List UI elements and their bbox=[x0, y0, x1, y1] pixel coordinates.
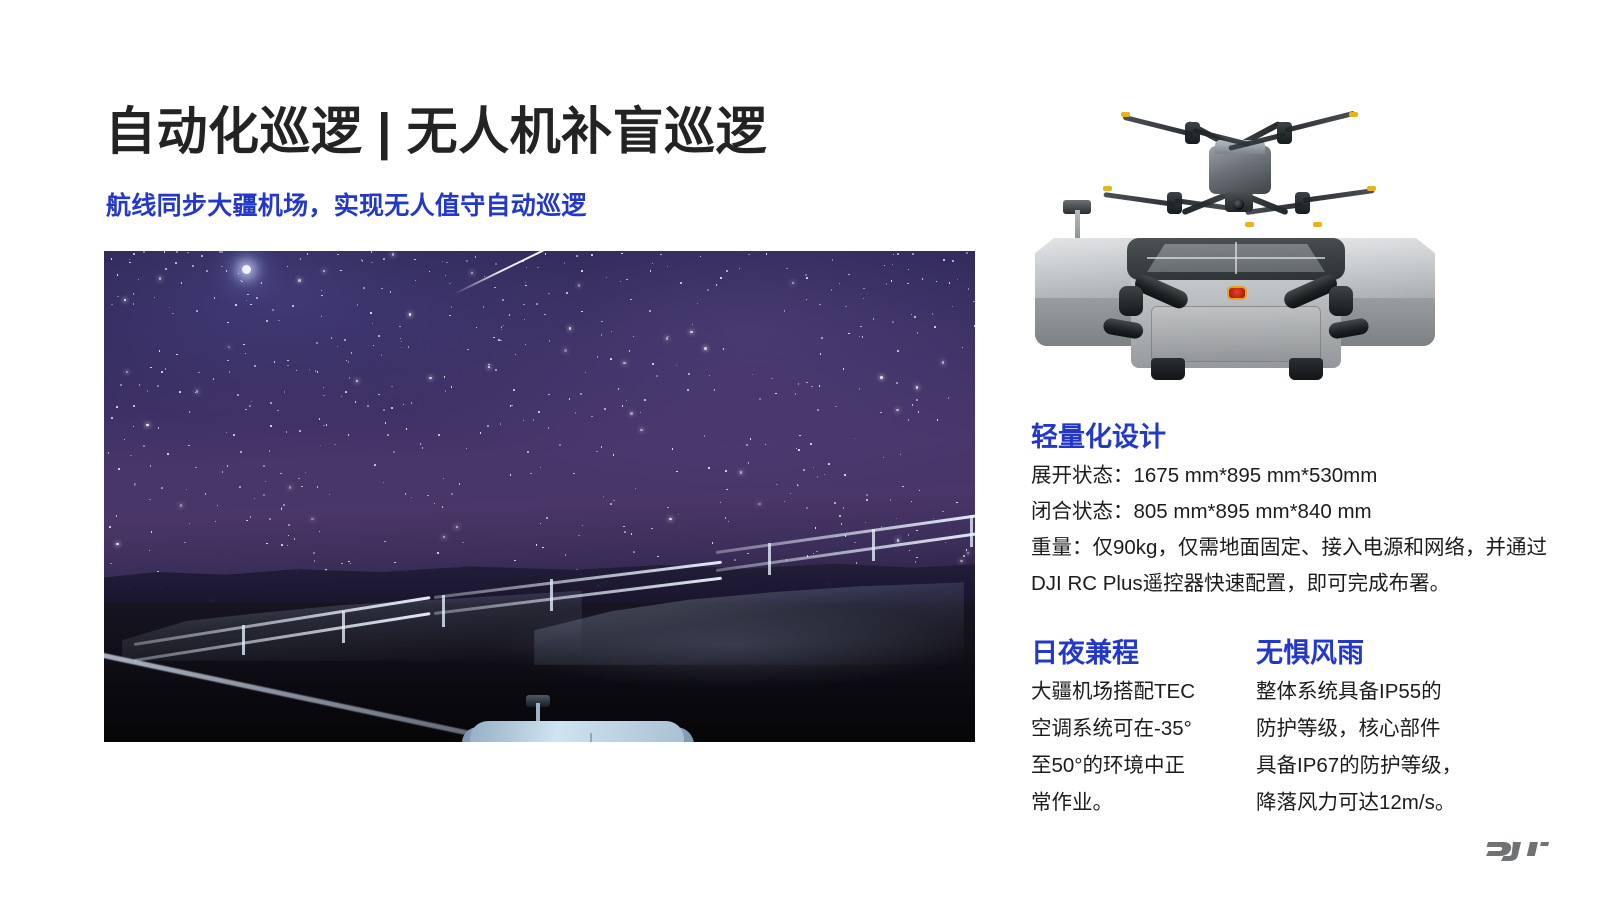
guardrail-post bbox=[970, 515, 973, 547]
dock-vertical-seam bbox=[590, 733, 592, 742]
emergency-stop-button[interactable] bbox=[1227, 286, 1247, 300]
day-night-line: 大疆机场搭配TEC bbox=[1031, 681, 1195, 704]
dji-dock-2-with-drone-render bbox=[1035, 108, 1435, 378]
bright-star bbox=[242, 265, 251, 274]
section-heading-lightweight: 轻量化设计 bbox=[1031, 415, 1166, 454]
guardrail-post bbox=[872, 529, 875, 561]
guardrail-post bbox=[550, 579, 553, 611]
landing-pad-marker bbox=[1235, 242, 1237, 274]
slide-root: 自动化巡逻 | 无人机补盲巡逻 航线同步大疆机场，实现无人值守自动巡逻 bbox=[0, 0, 1600, 900]
dji-logo bbox=[1486, 836, 1552, 862]
weather-line: 降落风力可达12m/s。 bbox=[1256, 792, 1455, 815]
day-night-line: 至50°的环境中正 bbox=[1031, 755, 1185, 778]
weather-station-mast bbox=[1075, 210, 1080, 240]
guardrail-post bbox=[442, 595, 445, 627]
drone-aircraft bbox=[1099, 110, 1379, 235]
propeller-tip bbox=[1367, 186, 1376, 191]
guardrail-post bbox=[242, 625, 245, 655]
dock-foot bbox=[1151, 358, 1185, 380]
lightweight-line: DJI RC Plus遥控器快速配置，即可完成布署。 bbox=[1031, 573, 1450, 596]
camera-lens-icon bbox=[1233, 199, 1244, 210]
day-night-line: 常作业。 bbox=[1031, 792, 1113, 815]
page-subtitle: 航线同步大疆机场，实现无人值守自动巡逻 bbox=[106, 186, 587, 222]
night-sky-dock-site-photo bbox=[104, 251, 975, 742]
dock-foot bbox=[1289, 358, 1323, 380]
lightweight-line: 闭合状态：805 mm*895 mm*840 mm bbox=[1031, 501, 1372, 524]
drone-propeller bbox=[1284, 111, 1355, 133]
drone-propeller bbox=[1303, 188, 1375, 203]
dock-lid bbox=[470, 721, 684, 742]
weather-line: 整体系统具备IP55的 bbox=[1256, 681, 1442, 704]
dji-dock-in-photo bbox=[456, 703, 702, 742]
dock-station bbox=[1035, 220, 1435, 376]
drone-propeller bbox=[1103, 192, 1175, 207]
day-night-line: 空调系统可在-35° bbox=[1031, 718, 1192, 741]
propeller-tip bbox=[1103, 186, 1112, 191]
section-heading-weather: 无惧风雨 bbox=[1256, 631, 1364, 670]
weather-line: 具备IP67的防护等级， bbox=[1256, 755, 1462, 778]
guardrail-post bbox=[768, 543, 771, 575]
lightweight-line: 重量：仅90kg，仅需地面固定、接入电源和网络，并通过 bbox=[1031, 537, 1547, 560]
dock-hinge-knob bbox=[1119, 286, 1143, 316]
dock-hinge-knob bbox=[1329, 286, 1353, 316]
guardrail-post bbox=[342, 611, 345, 643]
page-title: 自动化巡逻 | 无人机补盲巡逻 bbox=[105, 103, 767, 160]
weather-line: 防护等级，核心部件 bbox=[1256, 718, 1441, 741]
propeller-tip bbox=[1121, 112, 1130, 117]
propeller-tip bbox=[1349, 112, 1358, 117]
section-heading-day-night: 日夜兼程 bbox=[1031, 631, 1139, 670]
lightweight-line: 展开状态：1675 mm*895 mm*530mm bbox=[1031, 465, 1377, 488]
drone-propeller bbox=[1123, 115, 1194, 137]
dock-access-door[interactable] bbox=[1151, 306, 1321, 362]
